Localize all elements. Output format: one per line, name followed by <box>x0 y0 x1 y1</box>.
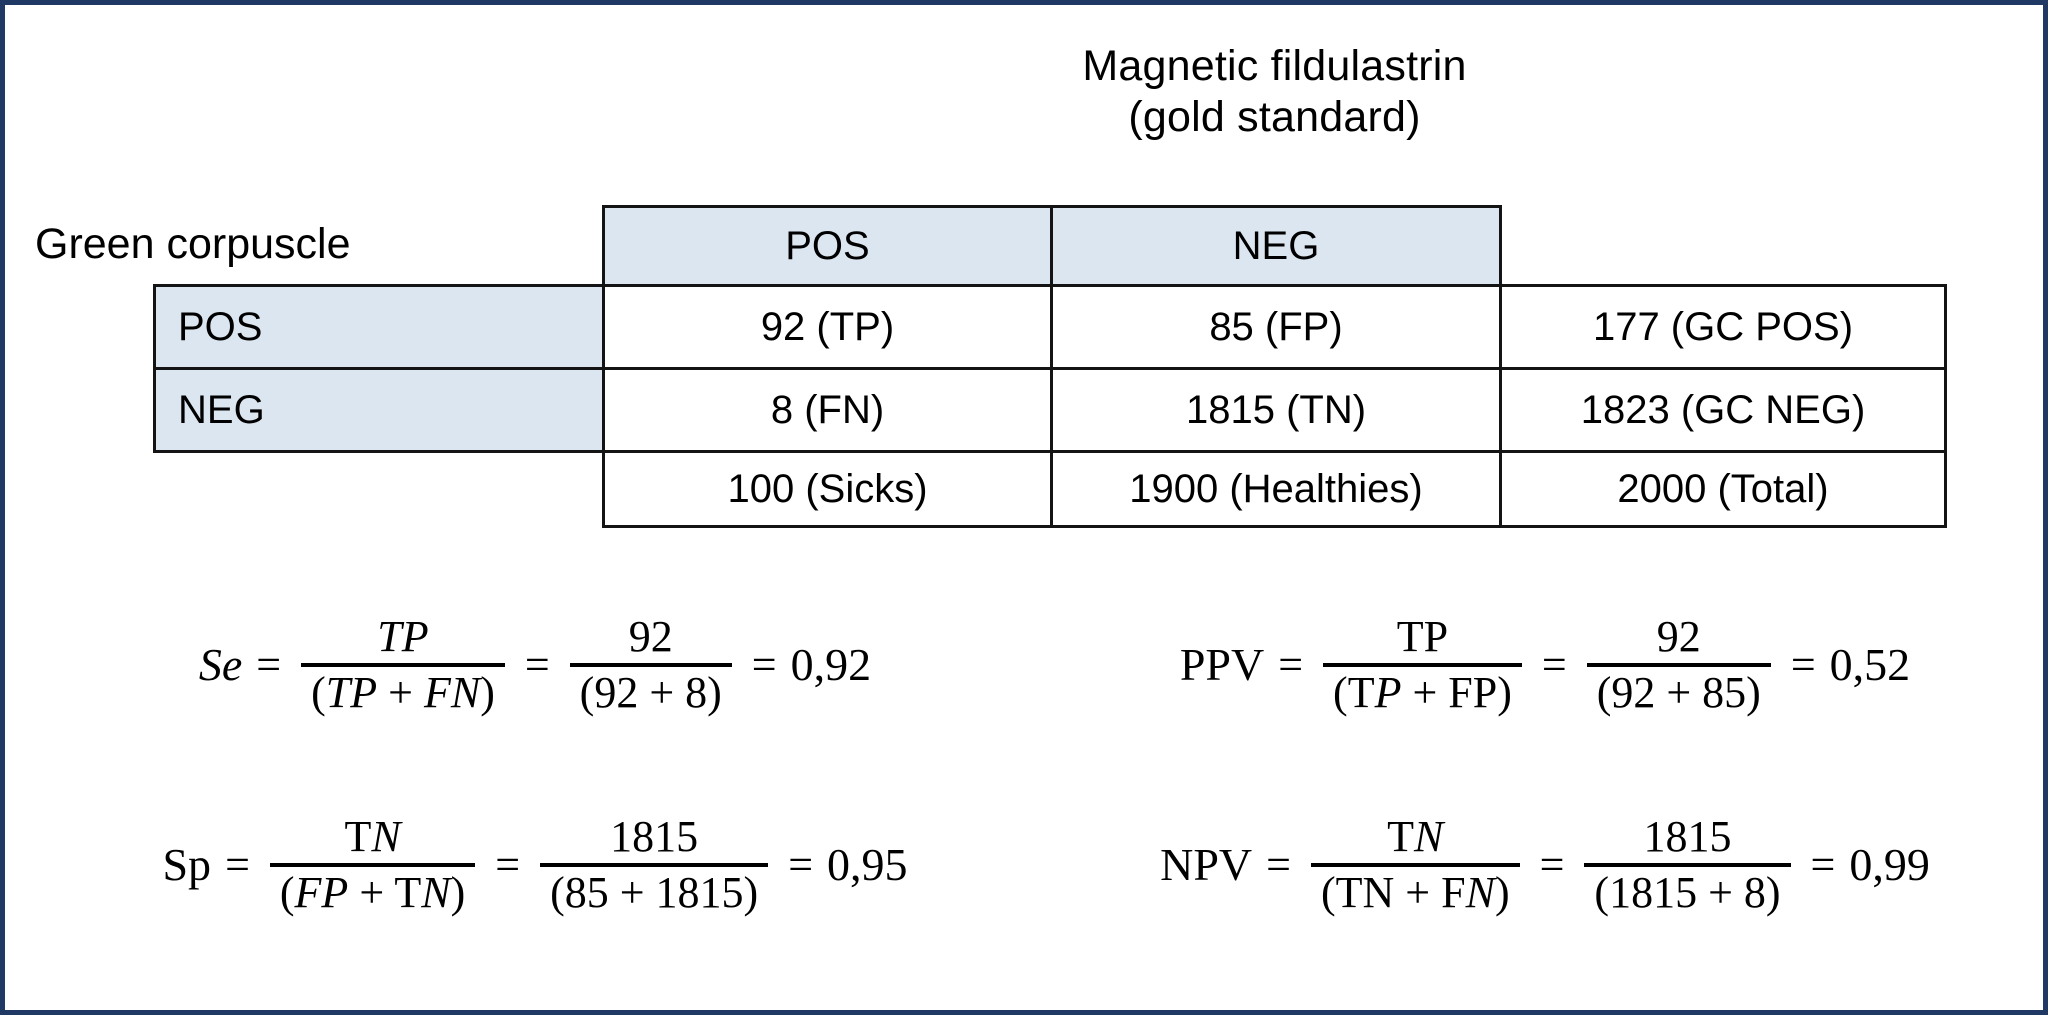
formula-sp-equals-3: = <box>788 843 813 887</box>
formula-se-result: 0,92 <box>791 642 872 688</box>
formula-sp-label: Sp <box>162 842 211 888</box>
formula-sp-numerator-value: 1815 <box>600 815 708 863</box>
cell-col-total-sicks: 100 (Sicks) <box>602 450 1053 528</box>
formula-npv-equals-2: = <box>1540 843 1565 887</box>
column-variable-title-line1: Magnetic fildulastrin <box>602 41 1947 92</box>
formula-sp-denominator-symbol: (FP + TN) <box>270 867 475 915</box>
cell-row-total-pos: 177 (GC POS) <box>1499 284 1947 370</box>
column-variable-title: Magnetic fildulastrin (gold standard) <box>602 41 1947 142</box>
formula-sp-denominator-value: (85 + 1815) <box>540 867 768 915</box>
formula-row-bottom: Sp = TN (FP + TN) = 1815 (85 + 1815) = 0… <box>5 765 2048 965</box>
formula-ppv-equals-1: = <box>1278 643 1303 687</box>
formula-npv-numerator-symbol: TN <box>1377 815 1453 863</box>
formula-ppv-denominator-symbol: (TP + FP) <box>1323 667 1522 715</box>
formula-ppv-numerator-symbol: TP <box>1387 615 1458 663</box>
confusion-matrix-table: POS NEG POS 92 (TP) 85 (FP) 177 (GC POS)… <box>153 205 1947 528</box>
formula-se-equals-2: = <box>525 643 550 687</box>
formula-specificity: Sp = TN (FP + TN) = 1815 (85 + 1815) = 0… <box>95 765 975 965</box>
cell-grand-total: 2000 (Total) <box>1499 450 1947 528</box>
formula-ppv-symbolic-fraction: TP (TP + FP) <box>1323 615 1522 715</box>
formula-sp-result: 0,95 <box>827 842 908 888</box>
formula-se-label: Se <box>199 642 242 688</box>
formula-npv-label: NPV <box>1160 842 1252 888</box>
formula-se-numerator-symbol: TP <box>367 615 438 663</box>
row-header-neg: NEG <box>153 367 605 453</box>
formula-sp-numerator-symbol: TN <box>334 815 410 863</box>
formula-ppv-equals-2: = <box>1542 643 1567 687</box>
cell-false-negative: 8 (FN) <box>602 367 1053 453</box>
formula-sp-equals-1: = <box>225 843 250 887</box>
column-header-neg: NEG <box>1050 205 1502 287</box>
formula-block: Se = TP (TP + FN) = 92 (92 + 8) = 0,92 <box>5 565 2048 965</box>
formula-se-equals-1: = <box>256 643 281 687</box>
cell-row-total-neg: 1823 (GC NEG) <box>1499 367 1947 453</box>
formula-se-numerator-value: 92 <box>619 615 683 663</box>
formula-ppv-numeric-fraction: 92 (92 + 85) <box>1587 615 1771 715</box>
formula-sp-equals-2: = <box>495 843 520 887</box>
row-header-pos: POS <box>153 284 605 370</box>
formula-npv-numeric-fraction: 1815 (1815 + 8) <box>1584 815 1790 915</box>
formula-npv-denominator-symbol: (TN + FN) <box>1311 867 1520 915</box>
formula-se-symbolic-fraction: TP (TP + FN) <box>301 615 505 715</box>
cell-true-negative: 1815 (TN) <box>1050 367 1502 453</box>
formula-npv-equals-3: = <box>1811 843 1836 887</box>
formula-row-top: Se = TP (TP + FN) = 92 (92 + 8) = 0,92 <box>5 565 2048 765</box>
formula-se-equals-3: = <box>752 643 777 687</box>
formula-ppv: PPV = TP (TP + FP) = 92 (92 + 85) = 0,52 <box>1085 565 2005 765</box>
formula-sensitivity: Se = TP (TP + FN) = 92 (92 + 8) = 0,92 <box>95 565 975 765</box>
formula-sp-numeric-fraction: 1815 (85 + 1815) <box>540 815 768 915</box>
formula-ppv-result: 0,52 <box>1830 642 1911 688</box>
formula-npv-result: 0,99 <box>1849 842 1930 888</box>
formula-npv-symbolic-fraction: TN (TN + FN) <box>1311 815 1520 915</box>
cell-col-total-healthies: 1900 (Healthies) <box>1050 450 1502 528</box>
formula-ppv-equals-3: = <box>1791 643 1816 687</box>
formula-npv-equals-1: = <box>1266 843 1291 887</box>
formula-ppv-denominator-value: (92 + 85) <box>1587 667 1771 715</box>
formula-ppv-label: PPV <box>1180 642 1264 688</box>
formula-se-denominator-value: (92 + 8) <box>570 667 732 715</box>
formula-sp-symbolic-fraction: TN (FP + TN) <box>270 815 475 915</box>
column-header-pos: POS <box>602 205 1053 287</box>
formula-npv-numerator-value: 1815 <box>1633 815 1741 863</box>
formula-ppv-numerator-value: 92 <box>1647 615 1711 663</box>
formula-se-numeric-fraction: 92 (92 + 8) <box>570 615 732 715</box>
formula-npv: NPV = TN (TN + FN) = 1815 (1815 + 8) = 0… <box>1085 765 2005 965</box>
column-variable-title-line2: (gold standard) <box>602 92 1947 143</box>
figure-canvas: Magnetic fildulastrin (gold standard) Gr… <box>0 0 2048 1015</box>
cell-true-positive: 92 (TP) <box>602 284 1053 370</box>
formula-se-denominator-symbol: (TP + FN) <box>301 667 505 715</box>
formula-npv-denominator-value: (1815 + 8) <box>1584 867 1790 915</box>
cell-false-positive: 85 (FP) <box>1050 284 1502 370</box>
